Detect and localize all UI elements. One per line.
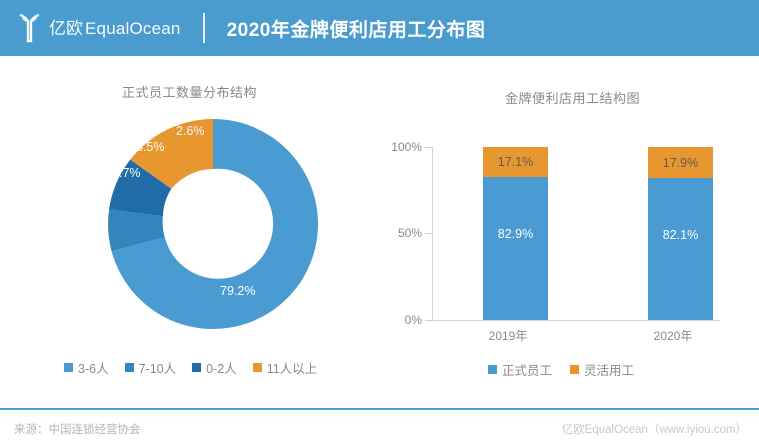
legend-label: 正式员工	[502, 360, 552, 379]
x-axis-line	[432, 320, 720, 321]
legend-item-11plus[interactable]: 11人以上	[253, 358, 317, 377]
donut-chart: 79.2% 11.7% 6.5% 2.6%	[78, 112, 348, 337]
y-axis-label-100: 100%	[390, 140, 422, 154]
legend-swatch-icon	[125, 363, 134, 372]
y-axis-label-0: 0%	[390, 313, 422, 327]
legend-label: 0-2人	[206, 358, 237, 377]
bar-legend: 正式员工 灵活用工	[488, 360, 634, 379]
bar-value-2020-flexible: 17.9%	[663, 156, 698, 170]
legend-swatch-icon	[64, 363, 73, 372]
y-axis-label-50: 50%	[390, 226, 422, 240]
legend-swatch-icon	[253, 363, 262, 372]
legend-label: 灵活用工	[584, 360, 634, 379]
legend-label: 7-10人	[139, 358, 177, 377]
donut-value-0-2: 6.5%	[136, 140, 165, 154]
donut-chart-title: 正式员工数量分布结构	[122, 82, 257, 101]
bar-chart: 100% 50% 0% 17.1% 82.9% 2019年 17.9% 82.1…	[392, 130, 722, 340]
bar-value-2019-flexible: 17.1%	[498, 155, 533, 169]
y-tick-0	[425, 320, 432, 321]
equalocean-logo-icon	[18, 13, 44, 43]
bar-segment-2019-flexible[interactable]: 17.1%	[483, 147, 548, 177]
page-header: 亿欧 EqualOcean 2020年金牌便利店用工分布图	[0, 0, 759, 56]
bar-segment-2020-flexible[interactable]: 17.9%	[648, 147, 713, 178]
header-divider	[203, 13, 205, 43]
donut-value-11plus: 2.6%	[176, 124, 205, 138]
legend-label: 3-6人	[78, 358, 109, 377]
legend-item-formal[interactable]: 正式员工	[488, 360, 552, 379]
legend-item-7-10[interactable]: 7-10人	[125, 358, 177, 377]
x-axis-label-2020: 2020年	[633, 327, 713, 344]
bar-column-2019[interactable]: 17.1% 82.9%	[483, 147, 548, 320]
bar-column-2020[interactable]: 17.9% 82.1%	[648, 147, 713, 320]
footer-divider	[0, 408, 759, 410]
page-title: 2020年金牌便利店用工分布图	[227, 15, 486, 42]
legend-swatch-icon	[570, 365, 579, 374]
bar-segment-2019-formal[interactable]: 82.9%	[483, 177, 548, 320]
y-axis-line	[432, 147, 433, 320]
y-tick-50	[425, 233, 432, 234]
x-axis-label-2019: 2019年	[468, 327, 548, 344]
legend-item-3-6[interactable]: 3-6人	[64, 358, 109, 377]
bar-segment-2020-formal[interactable]: 82.1%	[648, 178, 713, 320]
bar-value-2019-formal: 82.9%	[498, 227, 533, 241]
legend-item-flexible[interactable]: 灵活用工	[570, 360, 634, 379]
logo-text-en: EqualOcean	[85, 20, 181, 37]
footer-attribution: 亿欧EqualOcean（www.iyiou.com）	[562, 421, 747, 437]
legend-swatch-icon	[192, 363, 201, 372]
donut-value-3-6: 79.2%	[220, 284, 255, 298]
legend-swatch-icon	[488, 365, 497, 374]
brand-logo: 亿欧 EqualOcean	[18, 0, 181, 56]
bar-chart-title: 金牌便利店用工结构图	[505, 88, 640, 107]
y-tick-100	[425, 147, 432, 148]
logo-text-cn: 亿欧	[49, 20, 83, 37]
donut-value-7-10: 11.7%	[106, 166, 141, 180]
legend-item-0-2[interactable]: 0-2人	[192, 358, 237, 377]
donut-legend: 3-6人 7-10人 0-2人 11人以上	[64, 358, 317, 377]
bar-value-2020-formal: 82.1%	[663, 228, 698, 242]
footer-source: 来源：中国连锁经营协会	[14, 421, 141, 437]
legend-label: 11人以上	[267, 358, 317, 377]
